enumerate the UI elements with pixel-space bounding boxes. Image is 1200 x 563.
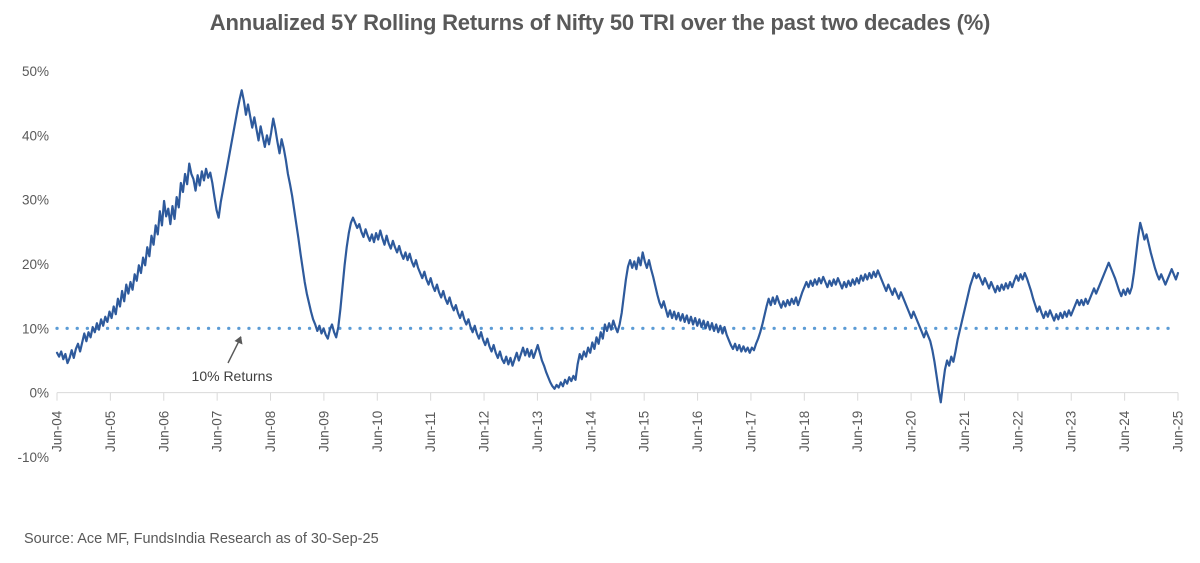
x-axis-tick-label: Jun-10: [370, 411, 385, 452]
x-axis-tick-label: Jun-07: [210, 411, 225, 452]
x-axis-tick-label: Jun-06: [156, 411, 171, 452]
x-axis-tick-label: Jun-09: [316, 411, 331, 452]
x-axis-tick-label: Jun-19: [850, 411, 865, 452]
x-axis-tick-label: Jun-14: [583, 410, 598, 452]
y-axis-tick-label: 30%: [22, 193, 49, 208]
return-series-line: [57, 90, 1178, 402]
x-axis-tick-label: Jun-22: [1010, 411, 1025, 452]
x-axis-tick-label: Jun-24: [1117, 410, 1132, 452]
chart-container: Annualized 5Y Rolling Returns of Nifty 5…: [0, 0, 1200, 563]
x-axis-tick-label: Jun-21: [957, 411, 972, 452]
x-axis-tick-label: Jun-12: [477, 411, 492, 452]
x-axis-tick-label: Jun-11: [423, 412, 438, 452]
x-axis-tick-label: Jun-17: [743, 411, 758, 452]
y-axis-tick-label: 50%: [22, 64, 49, 79]
x-axis-tick-label: Jun-04: [50, 410, 65, 452]
x-axis-tick-label: Jun-16: [690, 411, 705, 452]
x-axis-tick-label: Jun-08: [263, 411, 278, 452]
y-axis-tick-label: 10%: [22, 321, 49, 336]
x-axis-tick-label: Jun-13: [530, 411, 545, 452]
y-axis-tick-label: 20%: [22, 257, 49, 272]
x-axis-tick-label: Jun-05: [103, 411, 118, 452]
x-axis-tick-label: Jun-18: [797, 411, 812, 452]
y-axis-tick-label: 40%: [22, 128, 49, 143]
source-note: Source: Ace MF, FundsIndia Research as o…: [24, 531, 379, 547]
x-axis-tick-label: Jun-23: [1064, 411, 1079, 452]
annotation-label: 10% Returns: [192, 368, 273, 384]
x-axis-tick-label: Jun-15: [637, 411, 652, 452]
x-axis-tick-label: Jun-20: [904, 411, 919, 452]
y-axis-tick-group: 50%40%30%20%10%0%-10%: [17, 64, 49, 465]
chart-plot-area: 50%40%30%20%10%0%-10% Jun-04Jun-05Jun-06…: [0, 0, 1200, 520]
y-axis-tick-label: -10%: [17, 450, 49, 465]
y-axis-tick-label: 0%: [29, 386, 49, 401]
x-axis-tick-group: Jun-04Jun-05Jun-06Jun-07Jun-08Jun-09Jun-…: [50, 393, 1186, 452]
x-axis-tick-label: Jun-25: [1171, 411, 1186, 452]
annotation-10pct-returns: 10% Returns: [192, 336, 273, 384]
